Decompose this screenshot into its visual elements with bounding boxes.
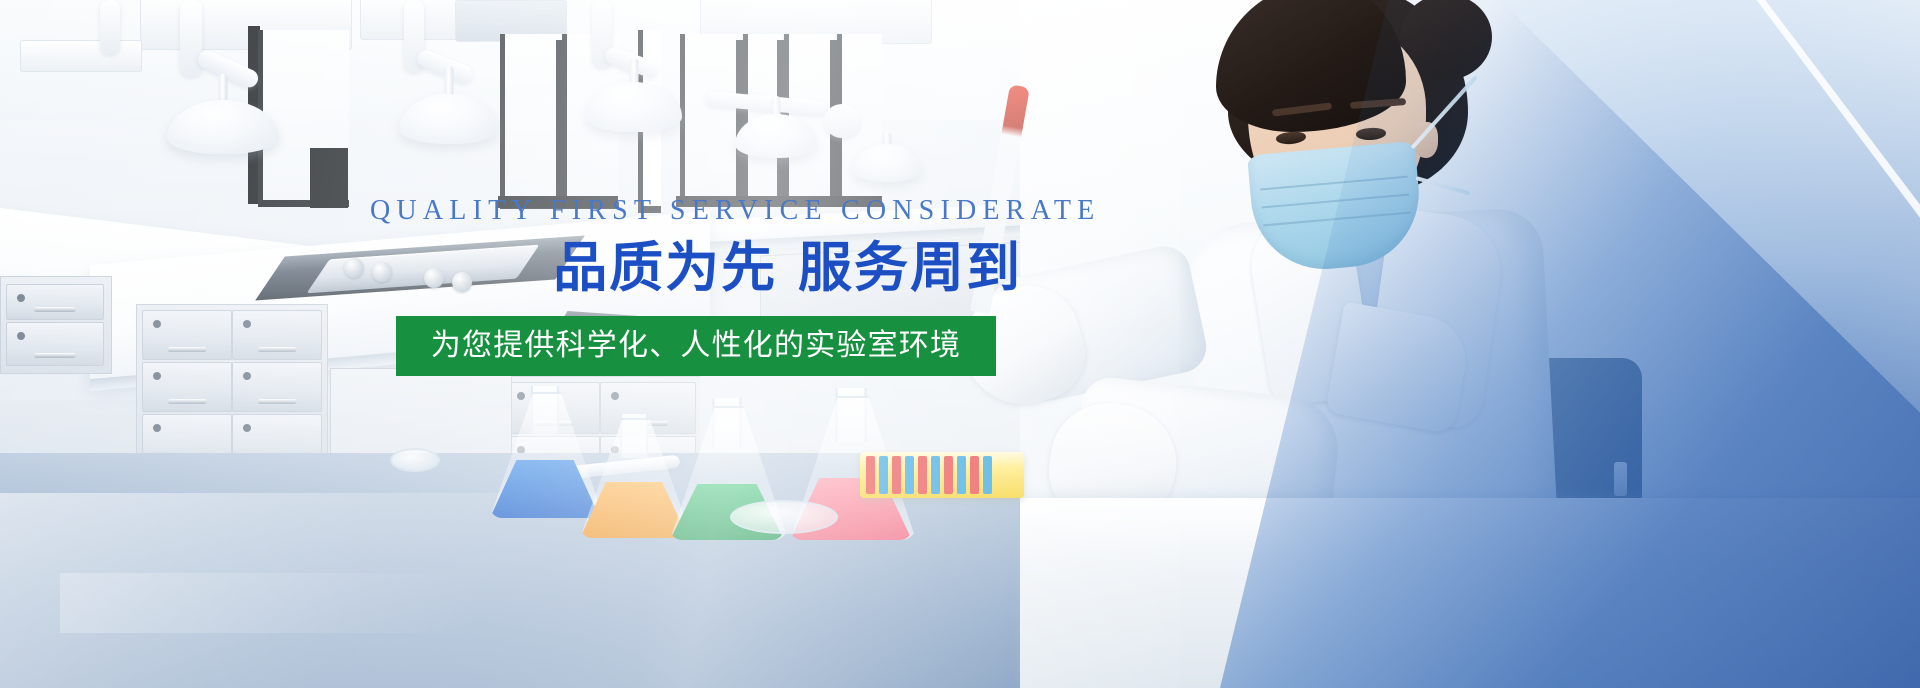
banner-headline: 品质为先 服务周到 [368,239,1028,297]
banner-eyebrow-text: QUALITY FIRST SERVICE CONSIDERATE [370,196,1028,225]
banner-subtitle-bar: 为您提供科学化、人性化的实验室环境 [396,316,996,376]
banner-copy: QUALITY FIRST SERVICE CONSIDERATE 品质为先 服… [368,196,1028,376]
hero-banner: QUALITY FIRST SERVICE CONSIDERATE 品质为先 服… [0,0,1920,688]
